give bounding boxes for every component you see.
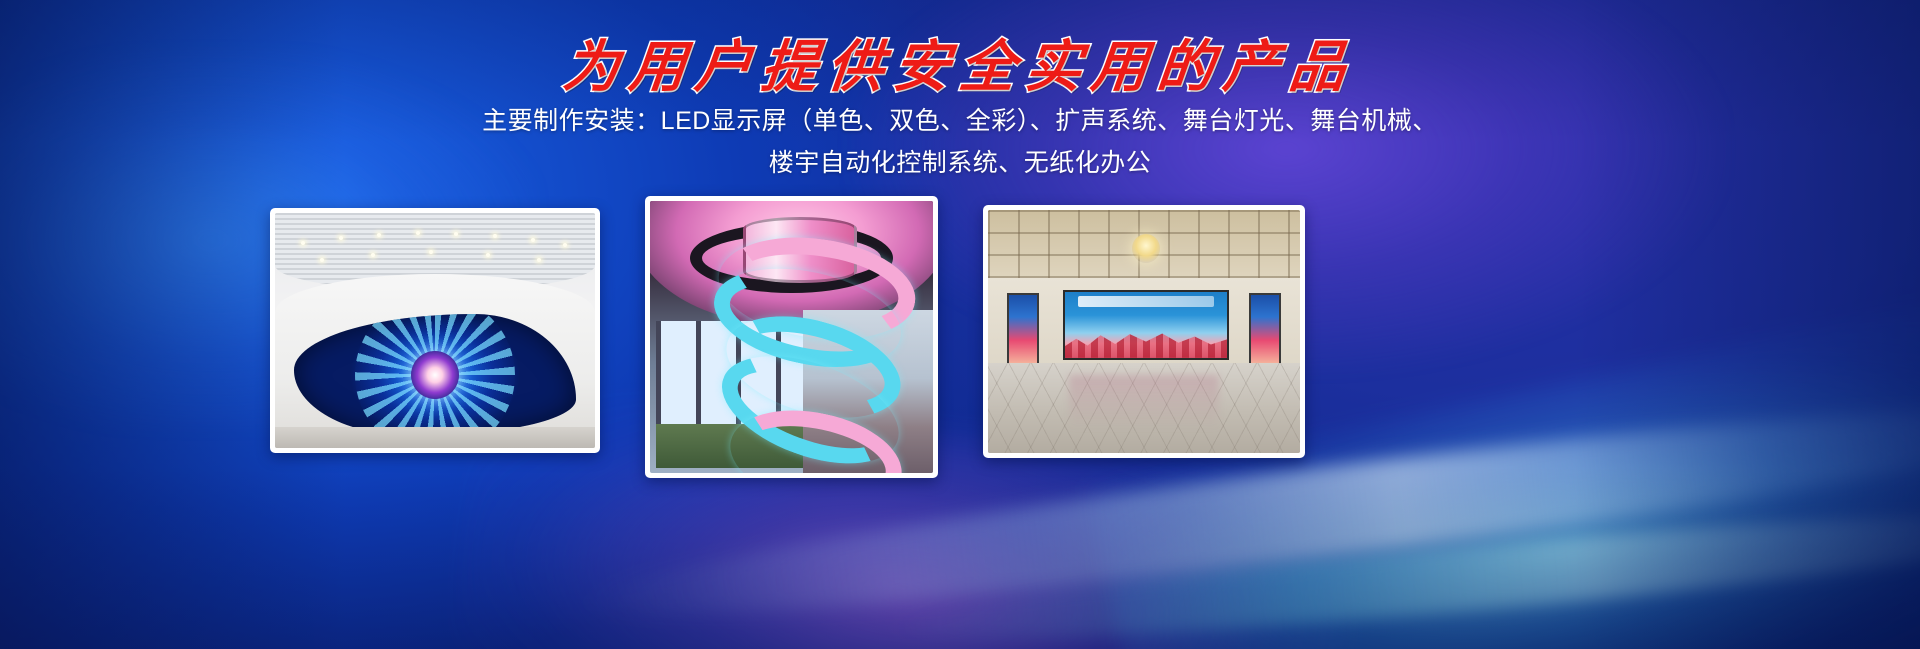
headline-container: 为用户提供安全实用的产品 [0,22,1920,103]
spiral-led-screen-photo [650,201,933,473]
gallery-photo-card-2[interactable] [645,196,938,478]
gallery-photo-card-3[interactable] [983,205,1305,458]
banner-headline: 为用户提供安全实用的产品 [560,22,1361,103]
subtitle-line-1: 主要制作安装：LED显示屏（单色、双色、全彩）、扩声系统、舞台灯光、舞台机械、 [0,100,1920,142]
led-eye-screen-photo [275,213,595,448]
gallery-photo-card-1[interactable] [270,208,600,453]
side-led-panel-right [1249,293,1281,370]
screen-title-bar [1078,296,1214,306]
floor-reflection [1069,375,1219,428]
side-led-panel-left [1007,293,1039,370]
hall-floor [275,427,595,448]
main-stage-led-screen [1063,290,1229,360]
screen-skyline-graphic [1065,329,1227,358]
banquet-hall-screen-photo [988,210,1300,453]
promo-banner: 为用户提供安全实用的产品 主要制作安装：LED显示屏（单色、双色、全彩）、扩声系… [0,0,1920,649]
photo-gallery [0,205,1920,475]
subtitle-line-2: 楼宇自动化控制系统、无纸化办公 [0,142,1920,184]
chandelier-icon [1132,234,1160,263]
banner-subtitle: 主要制作安装：LED显示屏（单色、双色、全彩）、扩声系统、舞台灯光、舞台机械、 … [0,100,1920,184]
